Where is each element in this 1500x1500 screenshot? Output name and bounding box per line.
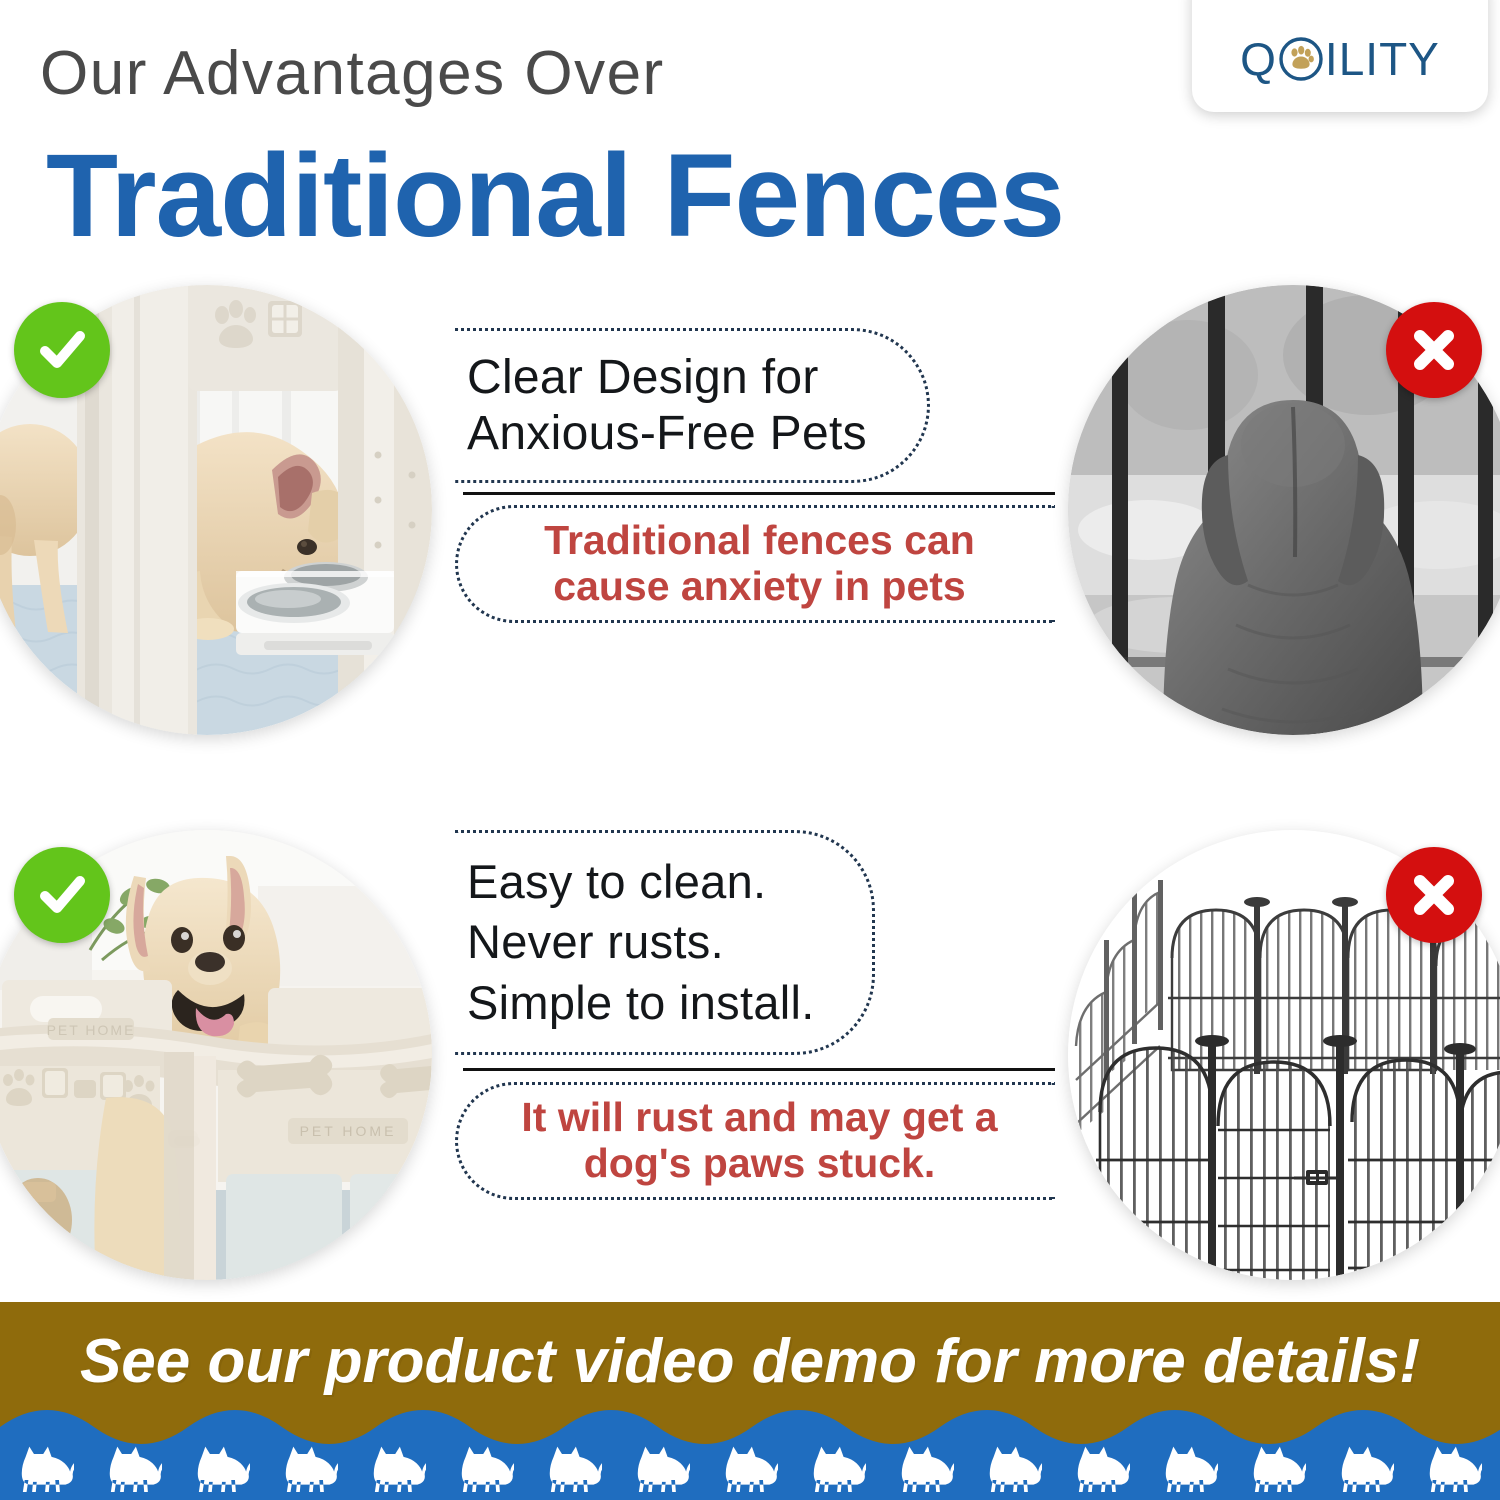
positive-callout-2: Easy to clean. Never rusts. Simple to in…: [455, 830, 875, 1055]
callout-divider-1: [463, 492, 1055, 495]
negative-callout-text-1: Traditional fences can cause anxiety in …: [486, 518, 1055, 610]
walking-cat-icon: [1162, 1442, 1218, 1492]
svg-text:PET HOME: PET HOME: [47, 1022, 136, 1038]
banner-headline: See our product video demo for more deta…: [0, 1326, 1500, 1397]
cross-icon: [1405, 321, 1463, 379]
walking-cat-icon: [1250, 1442, 1306, 1492]
brand-logo: Q ILITY: [1240, 32, 1440, 86]
cross-icon: [1405, 866, 1463, 924]
walking-cat-icon: [1426, 1442, 1482, 1492]
negative-callout-text-2: It will rust and may get a dog's paws st…: [486, 1095, 1055, 1187]
check-icon: [33, 321, 91, 379]
paw-print-icon: [1278, 36, 1324, 82]
walking-cat-icon: [722, 1442, 778, 1492]
walking-cat-icon: [546, 1442, 602, 1492]
comparison-row-1: Clear Design for Anxious-Free Pets Tradi…: [0, 280, 1500, 750]
walking-cat-icon: [898, 1442, 954, 1492]
callout-divider-2: [463, 1068, 1055, 1071]
page-kicker: Our Advantages Over: [40, 38, 665, 109]
positive-badge-2: [14, 847, 110, 943]
walking-cat-icon: [634, 1442, 690, 1492]
callout-group-1: Clear Design for Anxious-Free Pets Tradi…: [455, 280, 1055, 750]
walking-cat-icon: [1074, 1442, 1130, 1492]
walking-cat-icon: [194, 1442, 250, 1492]
negative-callout-1: Traditional fences can cause anxiety in …: [455, 505, 1055, 623]
check-icon: [33, 866, 91, 924]
page-title: Traditional Fences: [46, 128, 1064, 264]
walking-cat-icon: [106, 1442, 162, 1492]
logo-text-before: Q: [1240, 32, 1277, 86]
positive-callout-1: Clear Design for Anxious-Free Pets: [455, 328, 930, 483]
positive-badge-1: [14, 302, 110, 398]
positive-callout-text-2: Easy to clean. Never rusts. Simple to in…: [467, 852, 815, 1032]
negative-badge-2: [1386, 847, 1482, 943]
walking-cat-icon: [282, 1442, 338, 1492]
svg-text:PET HOME: PET HOME: [300, 1123, 397, 1139]
brand-logo-card: Q ILITY: [1192, 0, 1488, 112]
walking-cat-icon: [810, 1442, 866, 1492]
walking-cat-icon: [986, 1442, 1042, 1492]
promo-banner[interactable]: See our product video demo for more deta…: [0, 1302, 1500, 1500]
cat-icon-strip: [0, 1430, 1500, 1492]
positive-callout-text-1: Clear Design for Anxious-Free Pets: [467, 350, 867, 461]
walking-cat-icon: [458, 1442, 514, 1492]
walking-cat-icon: [1338, 1442, 1394, 1492]
logo-text-after: ILITY: [1325, 32, 1440, 86]
comparison-row-2: PET HOME: [0, 825, 1500, 1295]
walking-cat-icon: [370, 1442, 426, 1492]
negative-badge-1: [1386, 302, 1482, 398]
callout-group-2: Easy to clean. Never rusts. Simple to in…: [455, 825, 1055, 1295]
negative-callout-2: It will rust and may get a dog's paws st…: [455, 1082, 1055, 1200]
walking-cat-icon: [18, 1442, 74, 1492]
